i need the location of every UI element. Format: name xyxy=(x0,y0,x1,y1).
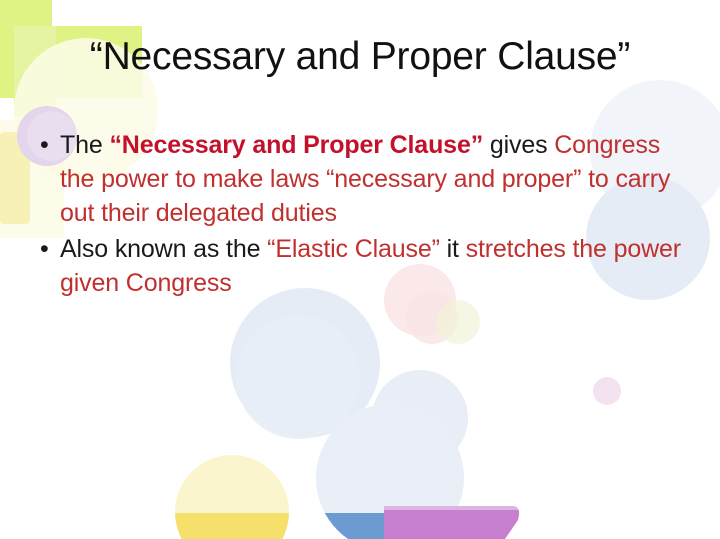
bullet-run: gives xyxy=(483,131,547,159)
bullet-run-emphasis: “Necessary and Proper Clause” xyxy=(109,131,483,159)
bullet-run: it xyxy=(440,235,466,263)
bullet-run-quoted: “necessary and proper” xyxy=(326,165,581,193)
bullet-run-quoted: “Elastic Clause” xyxy=(267,235,440,263)
bullet-marker: • xyxy=(34,128,60,162)
bullet-item: • The “Necessary and Proper Clause” give… xyxy=(34,128,684,230)
slide-body: • The “Necessary and Proper Clause” give… xyxy=(34,128,684,302)
bullet-run: The xyxy=(60,131,109,159)
presentation-slide: “Necessary and Proper Clause” • The “Nec… xyxy=(0,0,720,539)
slide-content: “Necessary and Proper Clause” • The “Nec… xyxy=(0,0,720,539)
bullet-item: • Also known as the “Elastic Clause” it … xyxy=(34,232,684,300)
bullet-text: Also known as the “Elastic Clause” it st… xyxy=(60,232,684,300)
bullet-text: The “Necessary and Proper Clause” gives … xyxy=(60,128,684,230)
slide-title: “Necessary and Proper Clause” xyxy=(0,36,720,78)
bullet-run: Also known as the xyxy=(60,235,267,263)
bullet-marker: • xyxy=(34,232,60,266)
